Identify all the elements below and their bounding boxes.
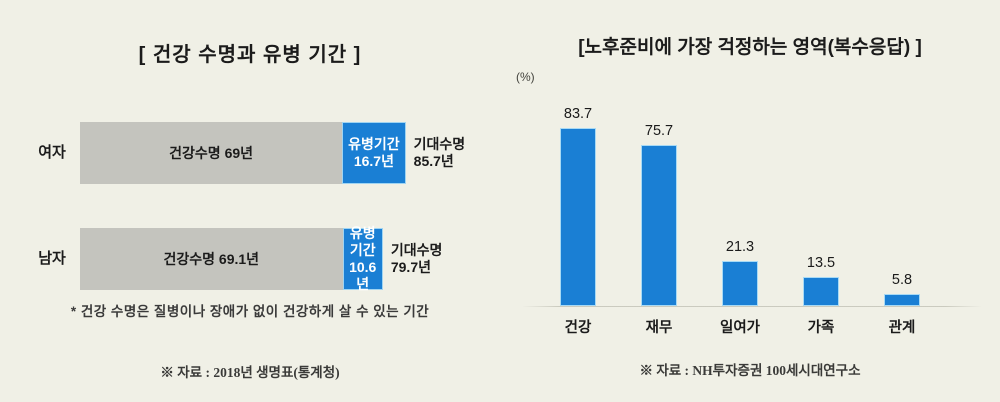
vertical-bar [560, 128, 596, 306]
vertical-bar [884, 294, 920, 306]
axis-baseline [522, 306, 982, 307]
life-expectancy-title-female: 기대수명 [414, 136, 466, 154]
bar-segment-illness-female: 유병기간 16.7년 [342, 122, 405, 184]
life-expectancy-title-male: 기대수명 [391, 242, 443, 260]
bar-category-label: 건강 [533, 316, 623, 337]
bar-segment-healthy-female: 건강수명 69년 [80, 122, 342, 184]
right-chart-panel: [노후준비에 가장 걱정하는 영역(복수응답) ] (%) 83.7건강75.7… [500, 0, 1000, 402]
infographic-page: [ 건강 수명과 유병 기간 ] 여자 건강수명 69년 유병기간 16.7년 … [0, 0, 1000, 402]
vertical-bar-plot-area: 83.7건강75.7재무21.3일여가13.5가족5.8관계 [500, 0, 1000, 402]
illness-label-male: 유병기간 [344, 225, 382, 259]
bar-value-label: 5.8 [862, 272, 942, 288]
bar-value-label: 13.5 [781, 255, 861, 271]
bar-segment-illness-male: 유병기간 10.6년 [343, 228, 383, 290]
left-chart-source: ※ 자료 : 2018년 생명표(통계청) [0, 361, 500, 381]
bar-segment-healthy-male: 건강수명 69.1년 [80, 228, 343, 290]
bar-row-female: 여자 건강수명 69년 유병기간 16.7년 기대수명 85.7년 [0, 122, 500, 184]
bar-category-label: 재무 [614, 316, 704, 337]
vertical-bar [803, 277, 839, 306]
left-chart-panel: [ 건강 수명과 유병 기간 ] 여자 건강수명 69년 유병기간 16.7년 … [0, 0, 500, 402]
illness-value-male: 10.6년 [344, 259, 382, 293]
vertical-bar [641, 145, 677, 306]
bar-row-male: 남자 건강수명 69.1년 유병기간 10.6년 기대수명 79.7년 [0, 228, 500, 290]
life-expectancy-value-female: 85.7년 [414, 153, 454, 171]
life-expectancy-label-male: 기대수명 79.7년 [391, 228, 443, 290]
stacked-bar-female: 건강수명 69년 유병기간 16.7년 [80, 122, 406, 184]
bar-value-label: 21.3 [700, 239, 780, 255]
bar-category-label: 일여가 [695, 316, 785, 337]
illness-label-female: 유병기간 [348, 136, 400, 153]
right-chart-source: ※ 자료 : NH투자증권 100세시대연구소 [500, 359, 1000, 379]
left-chart-title: [ 건강 수명과 유병 기간 ] [0, 38, 500, 67]
bar-value-label: 75.7 [619, 123, 699, 139]
bar-category-label: 관계 [857, 316, 947, 337]
vertical-bar [722, 261, 758, 306]
life-expectancy-value-male: 79.7년 [391, 259, 431, 277]
life-expectancy-label-female: 기대수명 85.7년 [414, 122, 466, 184]
illness-value-female: 16.7년 [348, 153, 400, 170]
row-label-female: 여자 [30, 122, 74, 184]
stacked-bar-male: 건강수명 69.1년 유병기간 10.6년 [80, 228, 383, 290]
row-label-male: 남자 [30, 228, 74, 290]
bar-category-label: 가족 [776, 316, 866, 337]
bar-value-label: 83.7 [538, 106, 618, 122]
left-chart-footnote: * 건강 수명은 질병이나 장애가 없이 건강하게 살 수 있는 기간 [0, 300, 500, 320]
